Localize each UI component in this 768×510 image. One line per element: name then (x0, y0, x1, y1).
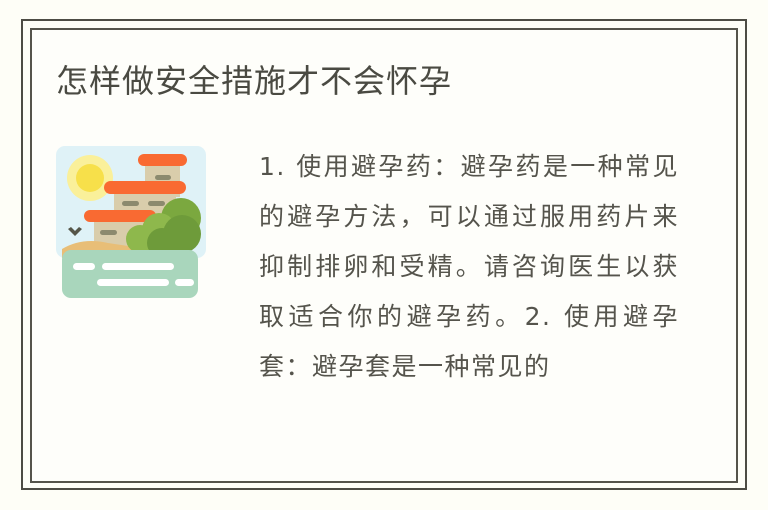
village-houses-illustration (56, 146, 206, 303)
page-title: 怎样做安全措施才不会怀孕 (56, 60, 696, 102)
article-content: 怎样做安全措施才不会怀孕 (30, 28, 738, 483)
article-body-text: 1. 使用避孕药：避孕药是一种常见的避孕方法，可以通过服用药片来抑制排卵和受精。… (259, 142, 679, 392)
page-root: 怎样做安全措施才不会怀孕 (0, 0, 768, 510)
article-body-row: 1. 使用避孕药：避孕药是一种常见的避孕方法，可以通过服用药片来抑制排卵和受精。… (56, 142, 708, 392)
